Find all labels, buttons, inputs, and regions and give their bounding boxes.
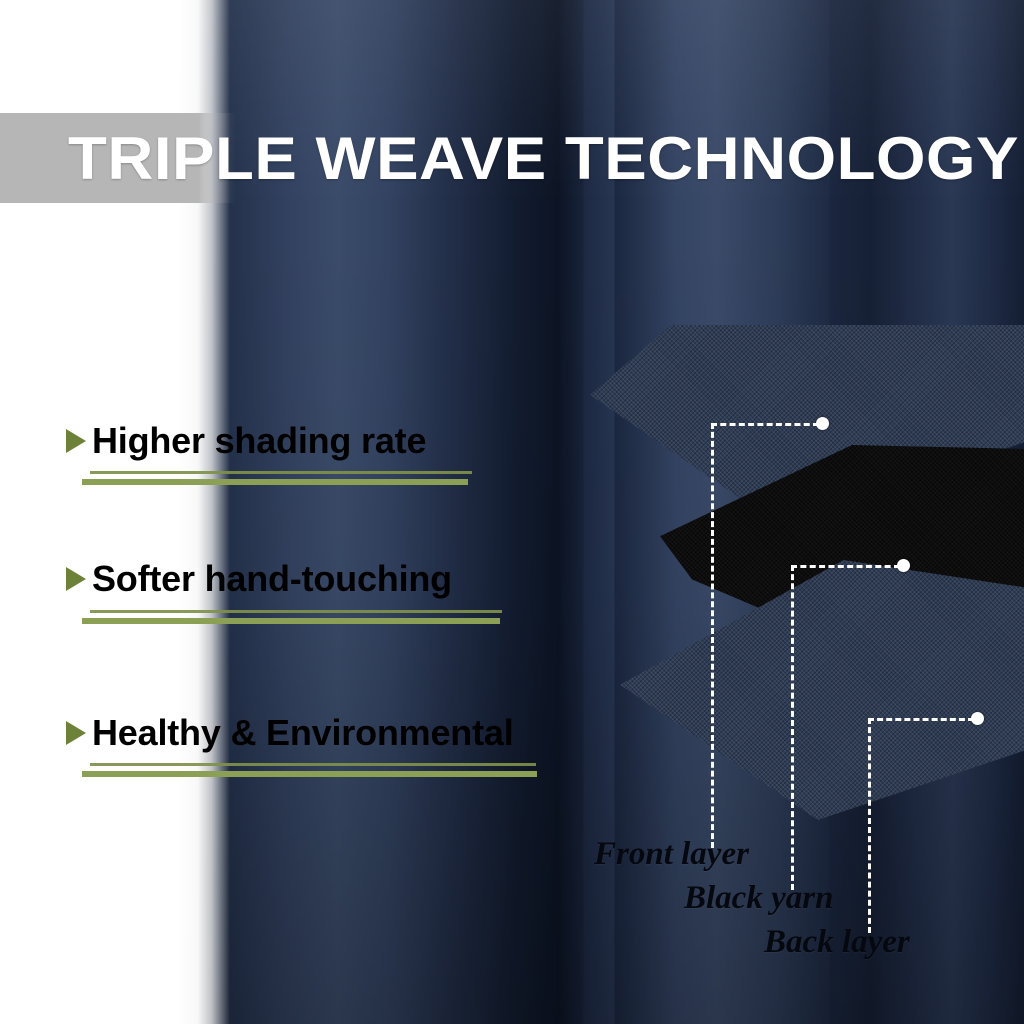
feature-3-rule-thin	[90, 763, 536, 766]
feature-3-row: Healthy & Environmental	[66, 712, 514, 754]
page-title: TRIPLE WEAVE TECHNOLOGY	[68, 122, 1024, 196]
feature-item-2: Softer hand-touching	[66, 558, 452, 600]
callout-line-back-vertical	[868, 718, 871, 933]
label-back-layer: Back layer	[764, 924, 910, 960]
callout-line-front-horizontal	[711, 423, 819, 426]
feature-2-row: Softer hand-touching	[66, 558, 452, 600]
label-black-yarn: Black yarn	[684, 880, 833, 916]
feature-2-rule-thick	[82, 618, 500, 624]
callout-line-black-vertical	[791, 565, 794, 890]
callout-line-back-horizontal	[868, 718, 974, 721]
feature-1-rule-thin	[90, 471, 472, 474]
feature-2-rule-thin	[90, 610, 502, 613]
triangle-right-icon	[66, 429, 86, 453]
feature-item-3: Healthy & Environmental	[66, 712, 514, 754]
feature-item-1: Higher shading rate	[66, 420, 426, 462]
callout-line-front-vertical	[711, 423, 714, 848]
feature-3-label: Healthy & Environmental	[92, 712, 514, 754]
feature-1-row: Higher shading rate	[66, 420, 426, 462]
product-infographic: TRIPLE WEAVE TECHNOLOGY Higher shading r…	[0, 0, 1024, 1024]
label-front-layer: Front layer	[594, 836, 749, 872]
feature-1-rule-thick	[82, 479, 468, 485]
triangle-right-icon	[66, 721, 86, 745]
feature-3-rule-thick	[82, 771, 537, 777]
callout-line-black-horizontal	[791, 565, 900, 568]
fabric-back-layer	[620, 560, 1024, 820]
feature-2-label: Softer hand-touching	[92, 558, 452, 600]
triangle-right-icon	[66, 567, 86, 591]
fabric-layer-diagram	[600, 325, 1024, 845]
feature-1-label: Higher shading rate	[92, 420, 426, 462]
